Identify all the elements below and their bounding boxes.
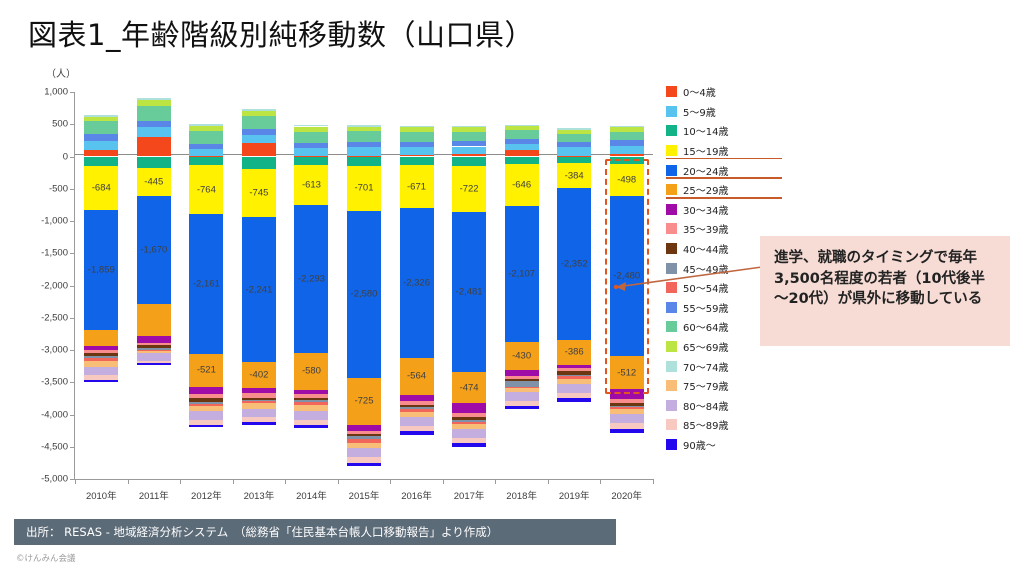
bar-segment[interactable] <box>452 132 486 141</box>
bar-segment[interactable] <box>400 142 434 148</box>
x-tick-mark <box>75 479 76 484</box>
y-tick-label: -3,500 <box>41 377 68 388</box>
bar-segment[interactable] <box>84 330 118 346</box>
x-tick-label: 2012年 <box>191 488 222 502</box>
bar-segment[interactable] <box>505 139 539 144</box>
bar-column[interactable]: -701-2,580-725 <box>347 92 381 479</box>
bar-column[interactable]: -684-1,859 <box>84 92 118 479</box>
bar-segment[interactable] <box>452 166 486 213</box>
bar-segment[interactable] <box>84 115 118 117</box>
bar-segment[interactable] <box>505 125 539 126</box>
legend-label: 80～84歳 <box>683 398 728 413</box>
x-tick-label: 2020年 <box>611 488 642 502</box>
bar-segment[interactable] <box>400 126 434 128</box>
y-axis-unit-label: （人） <box>46 65 76 80</box>
bar-segment[interactable] <box>400 165 434 208</box>
y-tick-label: -4,500 <box>41 441 68 452</box>
bar-segment[interactable] <box>610 132 644 140</box>
bar-segment[interactable] <box>347 157 381 166</box>
bar-segment[interactable] <box>505 392 539 400</box>
bar-segment[interactable] <box>452 126 486 127</box>
legend-label: 15～19歳 <box>683 143 728 158</box>
bar-segment[interactable] <box>452 403 486 413</box>
bar-segment[interactable] <box>610 429 644 433</box>
bar-segment[interactable] <box>137 336 171 343</box>
bar-segment[interactable] <box>294 205 328 353</box>
bar-segment[interactable] <box>557 142 591 147</box>
bar-segment[interactable] <box>505 144 539 150</box>
bar-segment[interactable] <box>189 411 223 420</box>
bar-segment[interactable] <box>189 157 223 165</box>
bar-segment[interactable] <box>294 425 328 428</box>
bar-segment[interactable] <box>610 356 644 389</box>
bar-segment[interactable] <box>610 164 644 196</box>
plot-area: -684-1,859-445-1,670-764-2,161-521-745-2… <box>75 92 653 479</box>
legend-label: 75～79歳 <box>683 378 728 393</box>
bar-segment[interactable] <box>557 157 591 164</box>
bar-segment[interactable] <box>452 443 486 447</box>
x-tick-mark <box>495 479 496 484</box>
legend-swatch-icon <box>666 380 677 391</box>
bar-segment[interactable] <box>189 387 223 394</box>
x-tick-label: 2016年 <box>401 488 432 502</box>
x-tick-mark <box>233 479 234 484</box>
bar-segment[interactable] <box>294 165 328 205</box>
bar-segment[interactable] <box>189 425 223 428</box>
legend-item[interactable]: 25～29歳 <box>666 180 776 200</box>
bar-segment[interactable] <box>189 131 223 144</box>
bar-segment[interactable] <box>294 411 328 420</box>
bar-segment[interactable] <box>84 380 118 383</box>
bar-segment[interactable] <box>400 147 434 155</box>
legend-swatch-icon <box>666 321 677 332</box>
bar-segment[interactable] <box>189 165 223 214</box>
bar-segment[interactable] <box>610 126 644 128</box>
bar-segment[interactable] <box>189 124 223 126</box>
bar-segment[interactable] <box>84 121 118 134</box>
bar-segment[interactable] <box>505 406 539 409</box>
bar-segment[interactable] <box>505 206 539 342</box>
bar-segment[interactable] <box>347 166 381 211</box>
bar-column[interactable]: -671-2,326-564 <box>400 92 434 479</box>
y-tick-label: -4,000 <box>41 409 68 420</box>
legend-swatch-icon <box>666 243 677 254</box>
bar-segment[interactable] <box>347 147 381 156</box>
legend-label: 20～24歳 <box>683 163 728 178</box>
source-text: 出所： RESAS - 地域経済分析システム （総務省「住民基本台帳人口移動報告… <box>14 524 498 540</box>
legend-swatch-icon <box>666 361 677 372</box>
bar-segment[interactable] <box>400 431 434 435</box>
legend-item[interactable]: 20～24歳 <box>666 160 776 180</box>
bar-segment[interactable] <box>452 212 486 372</box>
legend-swatch-icon <box>666 125 677 136</box>
x-tick-mark <box>390 479 391 484</box>
x-tick-mark <box>653 479 654 484</box>
x-tick-mark <box>338 479 339 484</box>
bar-segment[interactable] <box>294 157 328 166</box>
bar-segment[interactable] <box>84 166 118 210</box>
bar-segment[interactable] <box>505 370 539 377</box>
y-tick-label: 1,000 <box>44 87 68 98</box>
bar-segment[interactable] <box>189 126 223 131</box>
bar-segment[interactable] <box>137 196 171 304</box>
bar-segment[interactable] <box>242 409 276 418</box>
bar-column[interactable]: -384-2,352-386 <box>557 92 591 479</box>
legend-item[interactable]: 75～79歳 <box>666 376 776 396</box>
bar-segment[interactable] <box>294 132 328 143</box>
bar-column[interactable]: -445-1,670 <box>137 92 171 479</box>
bar-segment[interactable] <box>400 395 434 402</box>
bar-segment[interactable] <box>347 127 381 132</box>
x-tick-mark <box>285 479 286 484</box>
bar-segment[interactable] <box>137 168 171 197</box>
bar-segment[interactable] <box>137 121 171 127</box>
bar-segment[interactable] <box>400 208 434 358</box>
bar-segment[interactable] <box>242 129 276 135</box>
legend-item[interactable]: 90歳～ <box>666 435 776 455</box>
y-tick-label: -1,000 <box>41 216 68 227</box>
bar-segment[interactable] <box>189 214 223 353</box>
legend-swatch-icon <box>666 419 677 430</box>
bar-segment[interactable] <box>452 372 486 403</box>
bar-segment[interactable] <box>610 389 644 399</box>
bar-segment[interactable] <box>505 164 539 206</box>
x-tick-label: 2013年 <box>244 488 275 502</box>
bar-segment[interactable] <box>242 362 276 388</box>
y-tick-label: -500 <box>49 183 68 194</box>
legend-item[interactable]: 30～34歳 <box>666 200 776 220</box>
bar-segment[interactable] <box>400 157 434 165</box>
legend-swatch-icon <box>666 439 677 450</box>
legend-label: 35～39歳 <box>683 221 728 236</box>
bar-segment[interactable] <box>84 210 118 330</box>
legend-swatch-icon <box>666 106 677 117</box>
bar-segment[interactable] <box>610 414 644 423</box>
x-tick-label: 2014年 <box>296 488 327 502</box>
y-tick-label: -2,000 <box>41 280 68 291</box>
bar-segment[interactable] <box>189 149 223 156</box>
bar-segment[interactable] <box>505 157 539 165</box>
bar-segment[interactable] <box>400 132 434 142</box>
bar-segment[interactable] <box>294 143 328 148</box>
bar-column[interactable]: -764-2,161-521 <box>189 92 223 479</box>
bar-segment[interactable] <box>242 109 276 111</box>
legend-item[interactable]: 85～89歳 <box>666 415 776 435</box>
bar-segment[interactable] <box>137 137 171 156</box>
bar-segment[interactable] <box>242 143 276 157</box>
x-tick-mark <box>443 479 444 484</box>
bar-segment[interactable] <box>557 188 591 340</box>
callout-text: 進学、就職のタイミングで毎年3,500名程度の若者（10代後半～20代）が県外に… <box>774 248 998 310</box>
bar-segment[interactable] <box>137 157 171 168</box>
bar-segment[interactable] <box>137 353 171 361</box>
callout-box: 進学、就職のタイミングで毎年3,500名程度の若者（10代後半～20代）が県外に… <box>760 236 1010 346</box>
bar-segment[interactable] <box>84 157 118 167</box>
legend-label: 70～74歳 <box>683 359 728 374</box>
bar-segment[interactable] <box>505 342 539 370</box>
y-tick-label: -3,000 <box>41 345 68 356</box>
bar-segment[interactable] <box>84 117 118 122</box>
bar-segment[interactable] <box>84 134 118 140</box>
x-tick-label: 2010年 <box>86 488 117 502</box>
bar-segment[interactable] <box>137 304 171 336</box>
bar-segment[interactable] <box>347 378 381 425</box>
bar-segment[interactable] <box>557 398 591 402</box>
bar-segment[interactable] <box>452 127 486 131</box>
legend-item[interactable]: 10～14歳 <box>666 121 776 141</box>
x-tick-mark <box>600 479 601 484</box>
bar-segment[interactable] <box>242 135 276 143</box>
y-tick-label: 500 <box>52 119 68 130</box>
bar-segment[interactable] <box>242 217 276 362</box>
bar-segment[interactable] <box>84 367 118 375</box>
x-tick-label: 2017年 <box>454 488 485 502</box>
callout-arrow-icon <box>612 255 772 315</box>
y-tick-label: -2,500 <box>41 312 68 323</box>
legend-swatch-icon <box>666 86 677 97</box>
legend-item[interactable]: 15～19歳 <box>666 141 776 161</box>
bar-segment[interactable] <box>137 127 171 137</box>
legend-item[interactable]: 0～4歳 <box>666 82 776 102</box>
x-axis-line <box>74 479 654 480</box>
bar-column[interactable]: -722-2,481-474 <box>452 92 486 479</box>
legend-label: 40～44歳 <box>683 241 728 256</box>
bar-segment[interactable] <box>347 131 381 141</box>
legend-swatch-icon <box>666 145 677 156</box>
chart-container: （人） 1,0005000-500-1,000-1,500-2,000-2,50… <box>0 62 660 502</box>
legend-swatch-icon <box>666 223 677 234</box>
bar-segment[interactable] <box>294 125 328 127</box>
legend-swatch-icon <box>666 184 677 195</box>
legend-swatch-icon <box>666 204 677 215</box>
bar-segment[interactable] <box>452 157 486 166</box>
bar-segment[interactable] <box>137 98 171 100</box>
bar-column[interactable]: -613-2,293-580 <box>294 92 328 479</box>
bar-segment[interactable] <box>347 211 381 378</box>
source-bar: 出所： RESAS - 地域経済分析システム （総務省「住民基本台帳人口移動報告… <box>14 519 616 545</box>
bar-segment[interactable] <box>242 422 276 425</box>
x-tick-label: 2011年 <box>139 488 169 502</box>
bar-segment[interactable] <box>557 134 591 142</box>
x-tick-label: 2015年 <box>349 488 380 502</box>
page-title: 図表1_年齢階級別純移動数（山口県） <box>28 12 534 54</box>
bar-segment[interactable] <box>242 116 276 129</box>
bar-segment[interactable] <box>242 157 276 170</box>
bar-segment[interactable] <box>294 148 328 155</box>
legend-label: 85～89歳 <box>683 417 728 432</box>
bar-segment[interactable] <box>347 448 381 457</box>
slide-root: 図表1_年齢階級別純移動数（山口県） （人） 1,0005000-500-1,0… <box>0 0 1024 576</box>
y-tick-label: 0 <box>63 151 68 162</box>
bar-column[interactable]: -745-2,241-402 <box>242 92 276 479</box>
legend-swatch-icon <box>666 341 677 352</box>
bar-segment[interactable] <box>505 130 539 139</box>
x-tick-mark <box>180 479 181 484</box>
y-tick-label: -1,500 <box>41 248 68 259</box>
legend-label: 30～34歳 <box>683 202 728 217</box>
legend-item[interactable]: 80～84歳 <box>666 396 776 416</box>
bar-segment[interactable] <box>610 140 644 145</box>
bar-segment[interactable] <box>610 146 644 155</box>
legend-label: 65～69歳 <box>683 339 728 354</box>
x-tick-mark <box>548 479 549 484</box>
copyright-text: ©けんみん会議 <box>16 552 76 564</box>
bar-segment[interactable] <box>137 100 171 106</box>
bar-segment[interactable] <box>557 128 591 129</box>
legend-label: 90歳～ <box>683 437 716 452</box>
bar-segment[interactable] <box>347 125 381 127</box>
bar-segment[interactable] <box>557 384 591 392</box>
legend-label: 0～4歳 <box>683 84 716 99</box>
legend-label: 5～9歳 <box>683 104 716 119</box>
bar-segment[interactable] <box>347 463 381 467</box>
bar-segment[interactable] <box>400 127 434 132</box>
bar-segment[interactable] <box>189 144 223 149</box>
legend-item[interactable]: 70～74歳 <box>666 356 776 376</box>
bar-segment[interactable] <box>505 126 539 130</box>
legend-swatch-icon <box>666 400 677 411</box>
x-tick-label: 2018年 <box>506 488 537 502</box>
bar-segment[interactable] <box>452 147 486 155</box>
bar-segment[interactable] <box>452 429 486 438</box>
legend-item[interactable]: 5～9歳 <box>666 102 776 122</box>
bar-segment[interactable] <box>557 340 591 365</box>
y-tick-label: -5,000 <box>41 474 68 485</box>
bar-segment[interactable] <box>557 163 591 188</box>
x-tick-mark <box>128 479 129 484</box>
bar-segment[interactable] <box>294 353 328 390</box>
bar-segment[interactable] <box>400 358 434 394</box>
bar-segment[interactable] <box>557 130 591 134</box>
bar-segment[interactable] <box>137 106 171 121</box>
bar-segment[interactable] <box>610 127 644 132</box>
legend-label: 60～64歳 <box>683 319 728 334</box>
bar-segment[interactable] <box>137 363 171 365</box>
bar-segment[interactable] <box>84 141 118 151</box>
bar-segment[interactable] <box>189 354 223 388</box>
bar-segment[interactable] <box>452 141 486 146</box>
legend-swatch-icon <box>666 165 677 176</box>
bar-segment[interactable] <box>610 157 644 165</box>
bar-column[interactable]: -646-2,107-430 <box>505 92 539 479</box>
x-tick-label: 2019年 <box>559 488 590 502</box>
bar-segment[interactable] <box>347 142 381 147</box>
bar-segment[interactable] <box>242 169 276 217</box>
legend-label: 10～14歳 <box>683 123 728 138</box>
legend-label: 25～29歳 <box>683 182 728 197</box>
bar-segment[interactable] <box>400 417 434 426</box>
bar-segment[interactable] <box>242 111 276 116</box>
bar-segment[interactable] <box>557 147 591 156</box>
bar-segment[interactable] <box>294 127 328 132</box>
